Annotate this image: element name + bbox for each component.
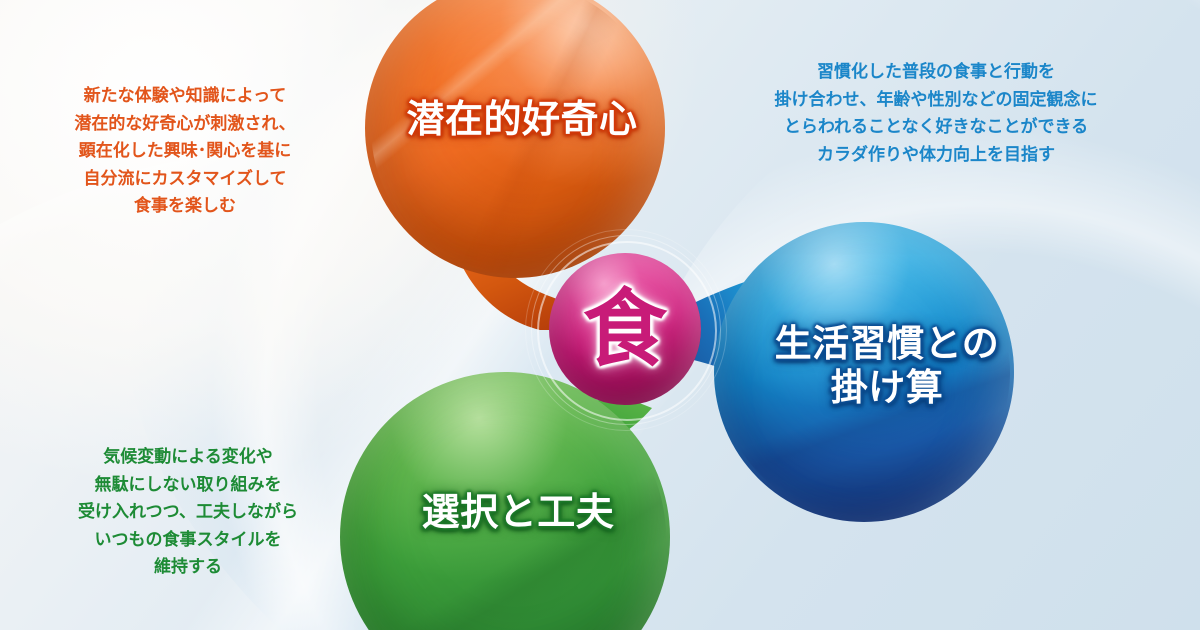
shoku-kanji-icon: 食 (583, 287, 667, 371)
caption-orange: 新たな体験や知識によって 潜在的な好奇心が刺激され、 顕在化した興味･関心を基に… (20, 82, 350, 220)
caption-blue: 習慣化した普段の食事と行動を 掛け合わせ、年齢や性別などの固定観念に とらわれる… (726, 58, 1146, 168)
lobe-label-green: 選択と工夫 (388, 491, 648, 536)
lobe-label-blue: 生活習慣との 掛け算 (742, 322, 1032, 409)
caption-green: 気候変動による変化や 無駄にしない取り組みを 受け入れつつ、工夫しながら いつも… (28, 443, 348, 581)
lobe-label-orange: 潜在的好奇心 (372, 98, 672, 143)
infographic-canvas: 食 潜在的好奇心 生活習慣との 掛け算 選択と工夫 新たな体験や知識によって 潜… (0, 0, 1200, 630)
center-node-food[interactable]: 食 (549, 253, 701, 405)
